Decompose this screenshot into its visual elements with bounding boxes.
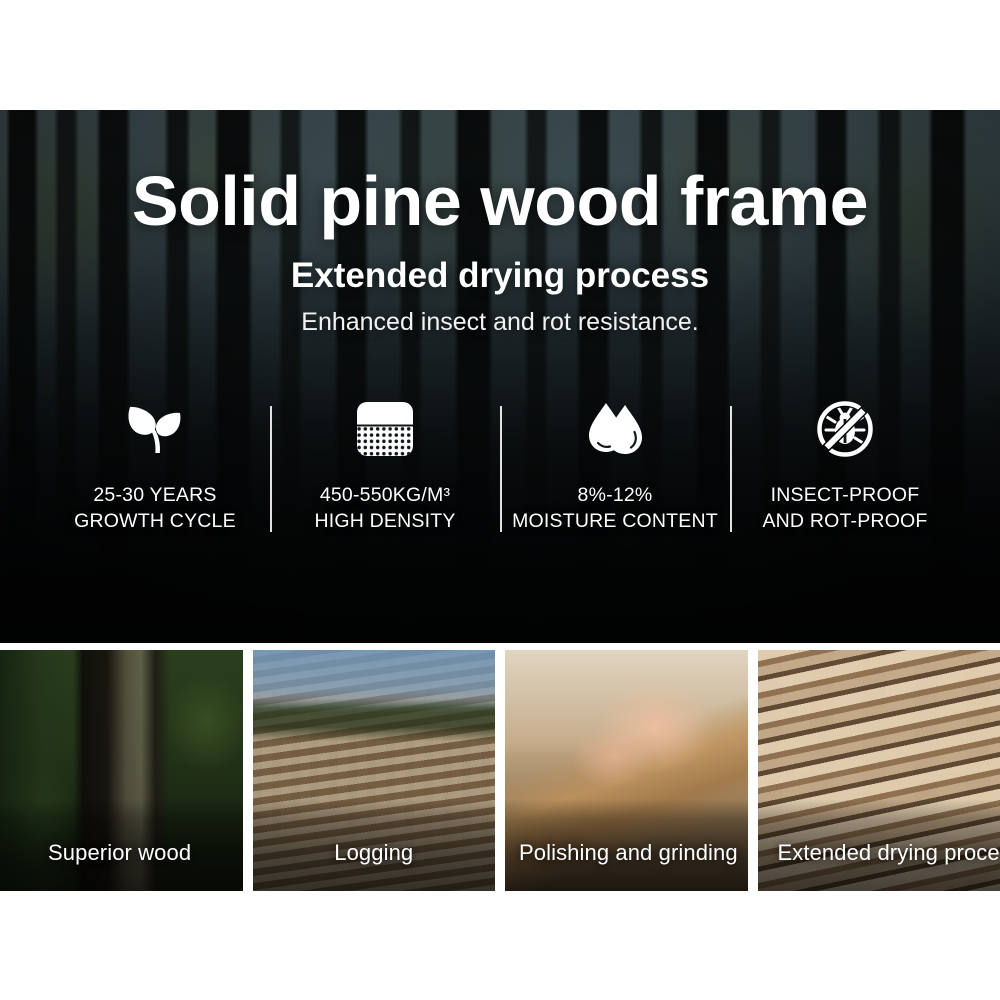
photo-card-logging: Logging (253, 650, 496, 891)
feature-label-line2: MOISTURE CONTENT (512, 510, 718, 532)
feature-label-line1: INSECT-PROOF (771, 484, 920, 506)
feature-strip: 25-30 YEARS GROWTH CYCLE (40, 398, 960, 548)
product-infographic-page: Solid pine wood frame Extended drying pr… (0, 0, 1000, 1000)
hero-subtitle: Extended drying process (0, 258, 1000, 293)
feature-label-line2: GROWTH CYCLE (74, 510, 236, 532)
leaf-sprout-icon (124, 398, 186, 460)
photo-card-extended-drying-process: Extended drying process (758, 650, 1000, 891)
feature-label: 450-550KG/M³ HIGH DENSITY (314, 482, 455, 535)
feature-label-line1: 25-30 YEARS (93, 484, 216, 506)
feature-label-line2: AND ROT-PROOF (762, 510, 927, 532)
hero-title: Solid pine wood frame (0, 166, 1000, 236)
no-insect-icon (815, 398, 875, 460)
feature-moisture-content: 8%-12% MOISTURE CONTENT (500, 398, 730, 548)
feature-insect-rot-proof: INSECT-PROOF AND ROT-PROOF (730, 398, 960, 548)
feature-label: 8%-12% MOISTURE CONTENT (512, 482, 718, 535)
feature-growth-cycle: 25-30 YEARS GROWTH CYCLE (40, 398, 270, 548)
hero-tagline: Enhanced insect and rot resistance. (0, 310, 1000, 335)
density-block-icon (356, 398, 414, 460)
photo-caption: Superior wood (0, 841, 243, 865)
hero-banner: Solid pine wood frame Extended drying pr… (0, 110, 1000, 643)
feature-label: 25-30 YEARS GROWTH CYCLE (74, 482, 236, 535)
photo-card-polishing-and-grinding: Polishing and grinding (505, 650, 748, 891)
photo-caption: Extended drying process (758, 841, 1000, 865)
hero-content: Solid pine wood frame Extended drying pr… (0, 110, 1000, 643)
feature-high-density: 450-550KG/M³ HIGH DENSITY (270, 398, 500, 548)
feature-label: INSECT-PROOF AND ROT-PROOF (762, 482, 927, 535)
water-droplets-icon (584, 398, 646, 460)
feature-label-line1: 450-550KG/M³ (320, 484, 450, 506)
feature-label-line1: 8%-12% (578, 484, 653, 506)
feature-label-line2: HIGH DENSITY (314, 510, 455, 532)
photo-caption: Logging (253, 841, 496, 865)
process-photo-row: Superior wood Logging Polishing and grin… (0, 650, 1000, 891)
photo-caption: Polishing and grinding (505, 841, 748, 865)
photo-card-superior-wood: Superior wood (0, 650, 243, 891)
